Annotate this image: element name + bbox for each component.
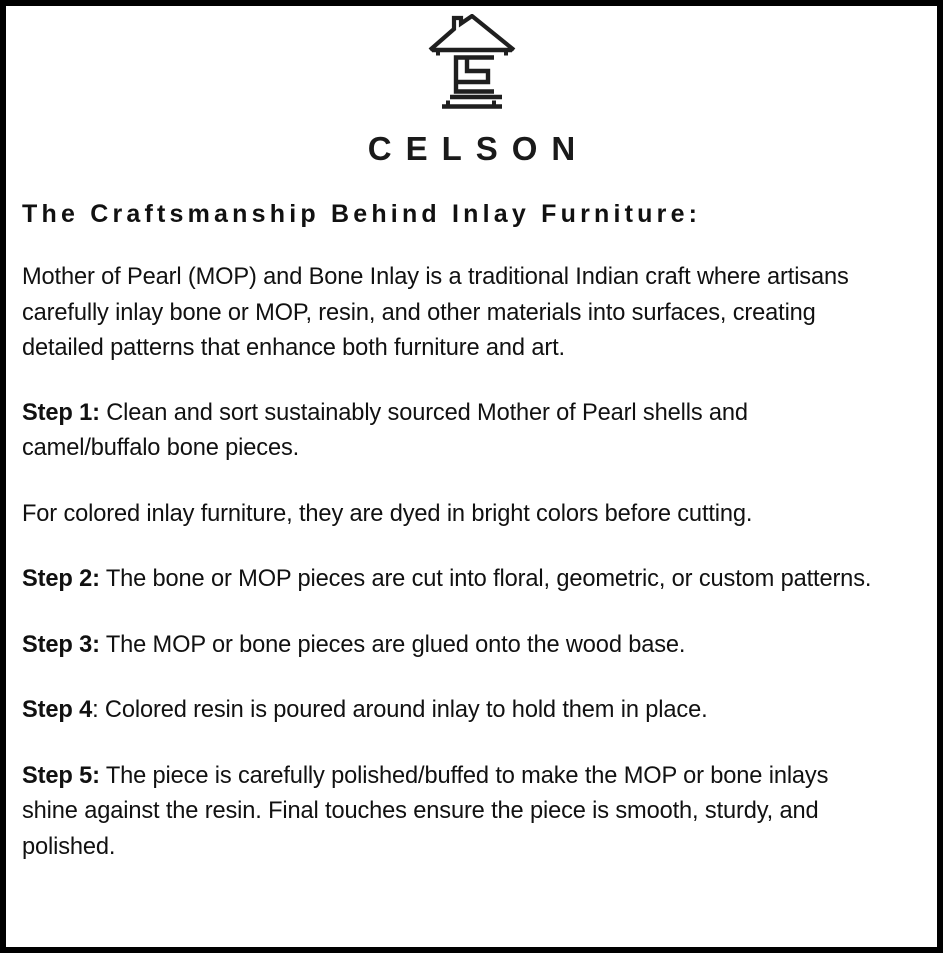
step-3-label: Step 3: bbox=[22, 631, 100, 658]
step-2-text: The bone or MOP pieces are cut into flor… bbox=[100, 565, 871, 592]
step-5-text: The piece is carefully polished/buffed t… bbox=[22, 762, 828, 860]
article-body: Mother of Pearl (MOP) and Bone Inlay is … bbox=[6, 259, 937, 864]
paragraph-step-4: Step 4: Colored resin is poured around i… bbox=[22, 692, 890, 728]
paragraph-step-3: Step 3: The MOP or bone pieces are glued… bbox=[22, 627, 890, 663]
brand-wordmark: CELSON bbox=[354, 132, 590, 165]
step-1-label: Step 1: bbox=[22, 399, 100, 426]
page-title: The Craftsmanship Behind Inlay Furniture… bbox=[6, 199, 937, 229]
house-monogram-cs-icon bbox=[424, 14, 520, 114]
step-4-label: Step 4 bbox=[22, 696, 92, 723]
step-3-text: The MOP or bone pieces are glued onto th… bbox=[100, 631, 686, 658]
paragraph-intro: Mother of Pearl (MOP) and Bone Inlay is … bbox=[22, 259, 890, 366]
paragraph-color-note: For colored inlay furniture, they are dy… bbox=[22, 496, 890, 532]
paragraph-step-1: Step 1: Clean and sort sustainably sourc… bbox=[22, 395, 890, 466]
brand-block: CELSON bbox=[6, 6, 937, 165]
paragraph-step-2: Step 2: The bone or MOP pieces are cut i… bbox=[22, 561, 890, 597]
poster-frame: CELSON The Craftsmanship Behind Inlay Fu… bbox=[0, 0, 943, 953]
step-2-label: Step 2: bbox=[22, 565, 100, 592]
step-4-text: : Colored resin is poured around inlay t… bbox=[92, 696, 707, 723]
paragraph-step-5: Step 5: The piece is carefully polished/… bbox=[22, 758, 890, 865]
step-5-label: Step 5: bbox=[22, 762, 100, 789]
step-1-text: Clean and sort sustainably sourced Mothe… bbox=[22, 399, 748, 462]
